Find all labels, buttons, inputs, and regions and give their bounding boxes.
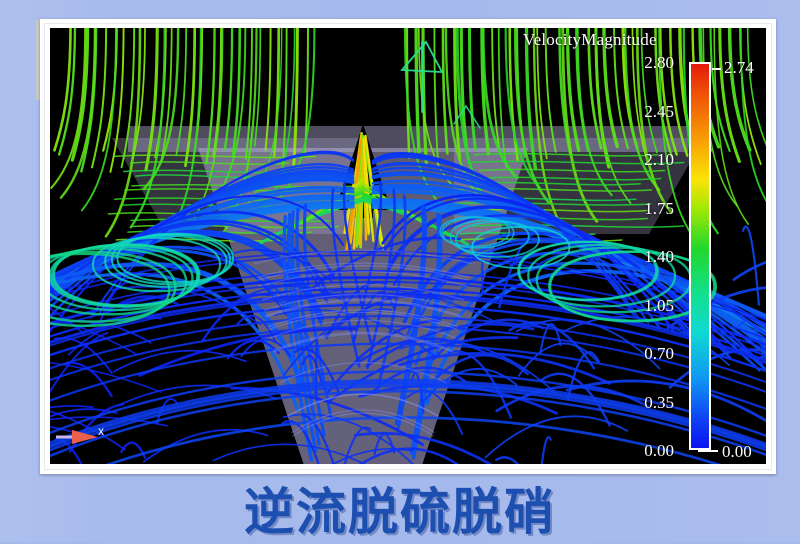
axis-label-x: x [98, 424, 104, 438]
colorbar-tick-label: 2.10 [618, 150, 674, 170]
colorbar-tick-label: 2.80 [618, 53, 674, 73]
colorbar-tick-label: 2.45 [618, 102, 674, 122]
caption-text: 逆流脱硫脱硝 [244, 472, 556, 544]
colorbar-tick-label: 0.00 [618, 441, 674, 461]
reactor-nozzle-stem [353, 178, 373, 218]
legend-title: VelocityMagnitude [523, 30, 657, 50]
colorbar-tick-label: 1.40 [618, 247, 674, 267]
colorbar-min-annotation: 0.00 [722, 442, 752, 462]
colorbar [689, 62, 711, 450]
slide-background: VelocityMagnitude 2.802.452.101.751.401.… [0, 0, 800, 542]
colorbar-tick-label: 0.35 [618, 393, 674, 413]
caption-bar: 逆流脱硫脱硝 [0, 474, 800, 542]
colorbar-max-annotation: 2.74 [724, 58, 754, 78]
colorbar-tick-label: 0.70 [618, 344, 674, 364]
cfd-viewport[interactable]: VelocityMagnitude 2.802.452.101.751.401.… [50, 28, 766, 464]
colorbar-min-dash [698, 450, 718, 452]
axis-orientation-widget: x [54, 424, 124, 450]
colorbar-tick-label: 1.05 [618, 296, 674, 316]
colorbar-tick-label: 1.75 [618, 199, 674, 219]
colorbar-max-dash [712, 68, 721, 70]
